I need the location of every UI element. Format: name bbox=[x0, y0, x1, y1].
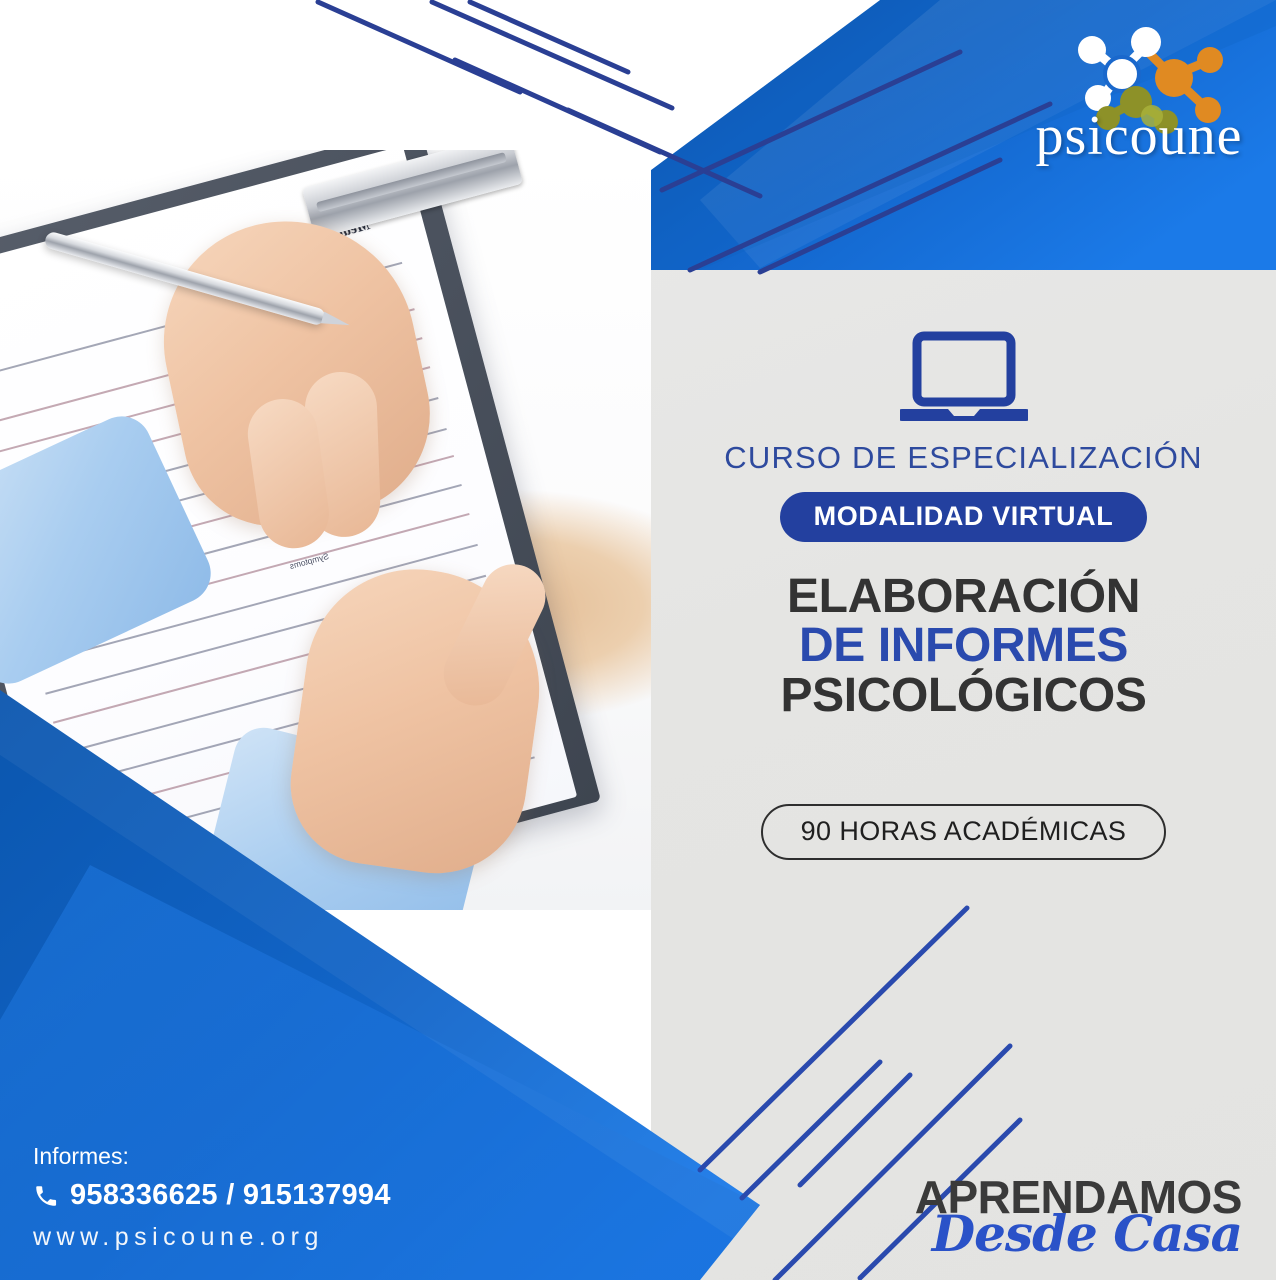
contact-phones: 958336625 / 915137994 bbox=[70, 1179, 391, 1212]
contact-label: Informes: bbox=[33, 1143, 391, 1170]
laptop-icon bbox=[900, 330, 1028, 426]
contact-phone-row[interactable]: 958336625 / 915137994 bbox=[33, 1179, 391, 1212]
promo-poster: Medical card Name Date of birth Gender A… bbox=[0, 0, 1276, 1280]
clipboard-writing-photo: Medical card Name Date of birth Gender A… bbox=[0, 150, 651, 910]
course-title-line-1: ELABORACIÓN bbox=[651, 572, 1276, 621]
tagline-line-2: Desde Casa bbox=[915, 1211, 1242, 1256]
course-kicker: CURSO DE ESPECIALIZACIÓN bbox=[651, 440, 1276, 476]
course-title-line-2: DE INFORMES bbox=[651, 621, 1276, 670]
contact-website[interactable]: www.psicoune.org bbox=[33, 1223, 391, 1252]
brand-logo: psicoune bbox=[1024, 10, 1254, 170]
brand-logo-text: psicoune bbox=[1024, 108, 1254, 164]
panel-content: CURSO DE ESPECIALIZACIÓN MODALIDAD VIRTU… bbox=[651, 0, 1276, 1280]
laptop-icon-wrap bbox=[651, 330, 1276, 426]
hours-pill-wrap: 90 HORAS ACADÉMICAS bbox=[651, 804, 1276, 860]
modality-badge: MODALIDAD VIRTUAL bbox=[780, 492, 1148, 542]
info-panel: CURSO DE ESPECIALIZACIÓN MODALIDAD VIRTU… bbox=[651, 0, 1276, 1280]
tagline-block: APRENDAMOS Desde Casa bbox=[915, 1175, 1242, 1256]
phone-icon bbox=[33, 1183, 59, 1209]
hours-pill: 90 HORAS ACADÉMICAS bbox=[761, 804, 1167, 860]
contact-block: Informes: 958336625 / 915137994 www.psic… bbox=[33, 1143, 391, 1252]
course-title-line-3: PSICOLÓGICOS bbox=[651, 671, 1276, 720]
photo-area: Medical card Name Date of birth Gender A… bbox=[0, 0, 651, 1280]
course-title: ELABORACIÓN DE INFORMES PSICOLÓGICOS bbox=[651, 572, 1276, 720]
modality-badge-wrap: MODALIDAD VIRTUAL bbox=[651, 492, 1276, 542]
